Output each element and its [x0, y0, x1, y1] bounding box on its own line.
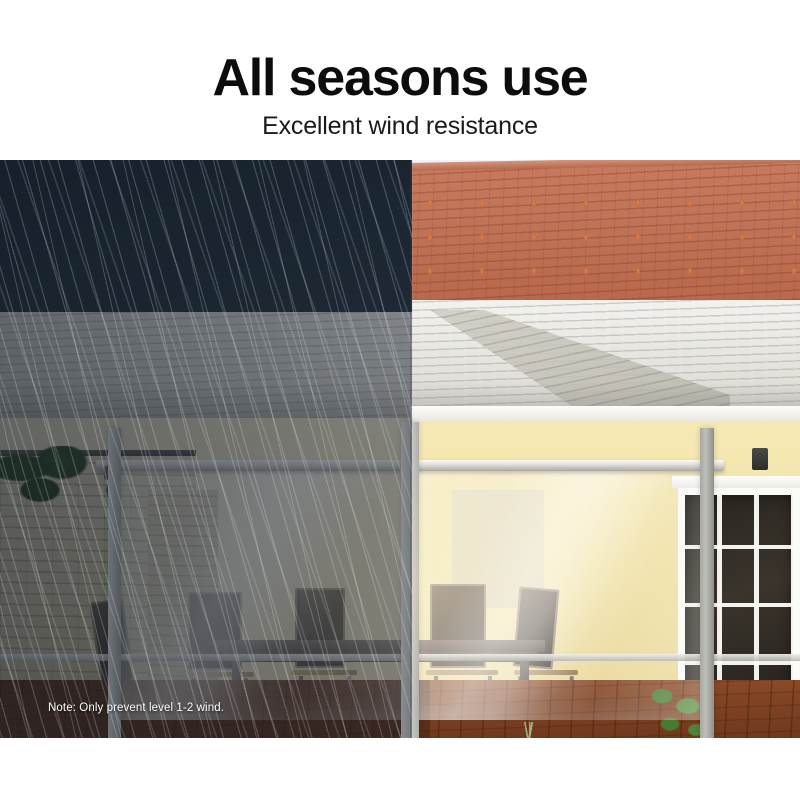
- page-title: All seasons use: [0, 52, 800, 104]
- wall-eave: [410, 406, 800, 422]
- page-subtitle: Excellent wind resistance: [0, 114, 800, 139]
- product-photo: Note: Only prevent level 1-2 wind.: [0, 160, 800, 738]
- footer-whitespace: [0, 738, 800, 800]
- disclaimer-note: Note: Only prevent level 1-2 wind.: [48, 702, 224, 714]
- split-seam: [410, 160, 413, 738]
- header-banner: All seasons use Excellent wind resistanc…: [0, 0, 800, 160]
- storm-side-overlay: [0, 160, 412, 738]
- rain-streaks: [0, 160, 412, 738]
